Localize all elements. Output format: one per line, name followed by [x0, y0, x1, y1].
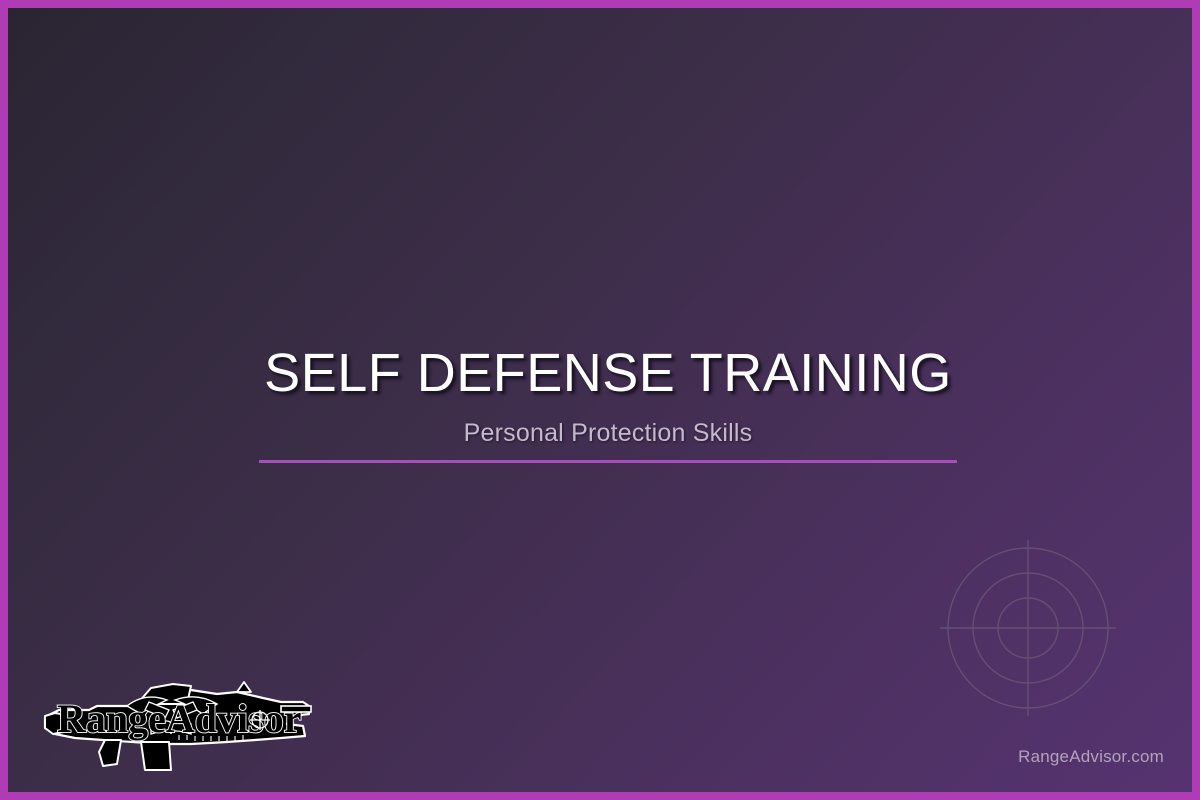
- title-divider: [259, 460, 957, 463]
- crosshair-target-icon: [928, 528, 1128, 728]
- page-title: SELF DEFENSE TRAINING: [108, 345, 1108, 402]
- site-watermark: RangeAdvisor.com: [1018, 747, 1164, 767]
- brand-logo: RangeAdvisor: [41, 680, 313, 772]
- logo-wordmark: RangeAdvisor: [57, 696, 301, 741]
- presentation-slide: SELF DEFENSE TRAINING Personal Protectio…: [0, 0, 1200, 800]
- page-subtitle: Personal Protection Skills: [108, 419, 1108, 448]
